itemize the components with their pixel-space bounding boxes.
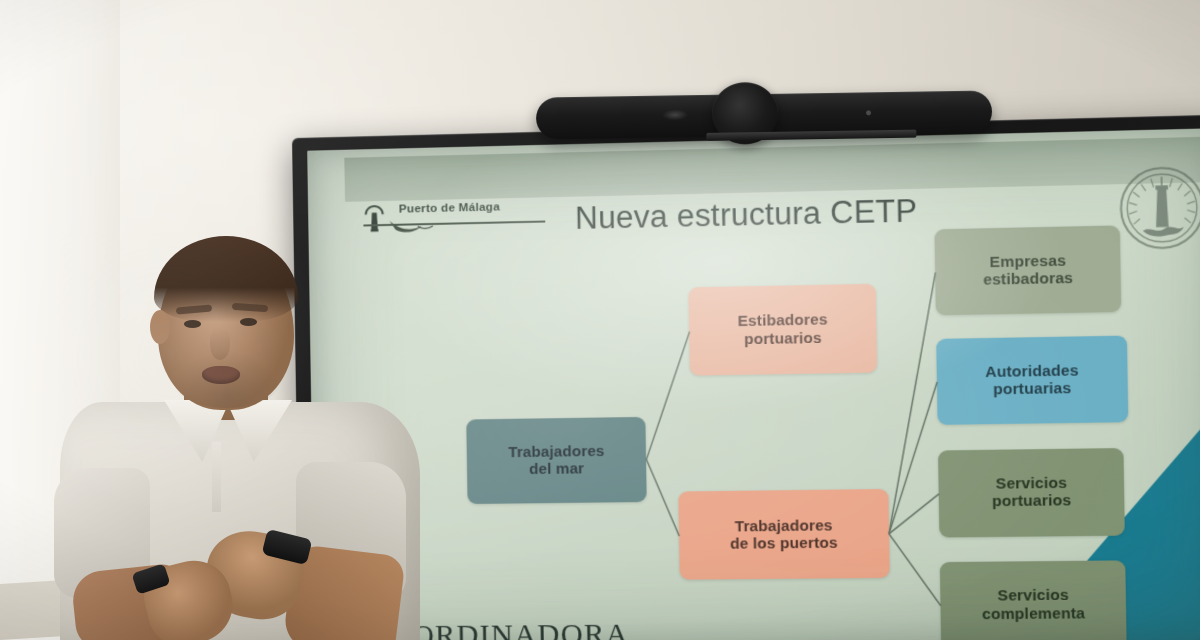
diagram-edge <box>887 382 940 534</box>
diagram-edge <box>889 533 941 606</box>
status-led-icon <box>866 110 871 115</box>
diagram-connectors <box>307 128 1200 640</box>
eye-right <box>240 318 257 326</box>
diagram-edge <box>646 459 679 536</box>
org-diagram: Trabajadoresdel marEstibadoresportuarios… <box>307 128 1200 640</box>
ear <box>150 310 170 344</box>
video-conference-camera-soundbar[interactable] <box>536 78 993 143</box>
eye-left <box>184 320 201 328</box>
wall-display[interactable]: Puerto de Málaga <box>292 114 1200 640</box>
presenter <box>60 232 420 640</box>
diagram-edge <box>644 332 691 460</box>
presentation-slide: Puerto de Málaga <box>307 128 1200 640</box>
mouth <box>202 366 240 384</box>
photo-scene: Puerto de Málaga <box>0 0 1200 640</box>
shirt-placket <box>212 442 221 512</box>
display-screen[interactable]: Puerto de Málaga <box>307 128 1200 640</box>
diagram-edge <box>885 273 940 534</box>
display-bezel: Puerto de Málaga <box>292 114 1200 640</box>
